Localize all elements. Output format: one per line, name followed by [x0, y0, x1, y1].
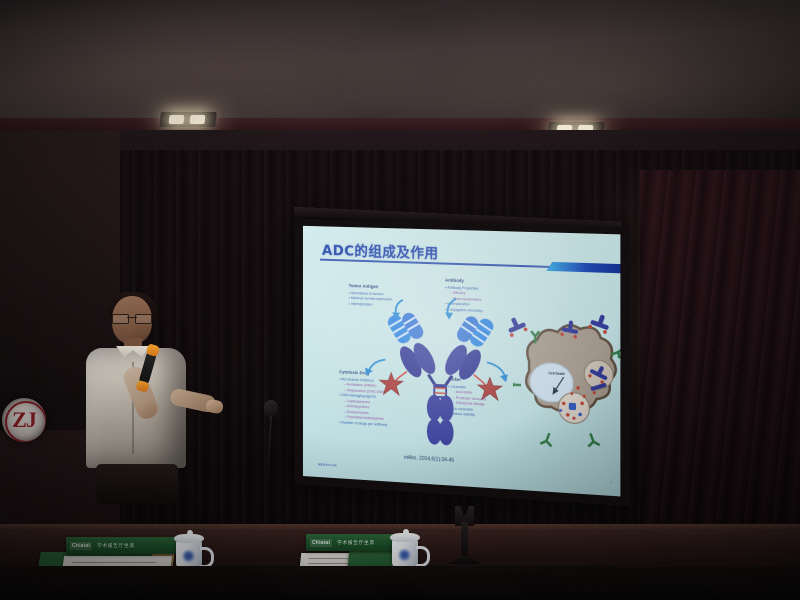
- arrow-tumor-antigen: [385, 297, 406, 322]
- glasses-lens-right: [135, 314, 152, 324]
- placard-logo: Chiatai: [70, 542, 92, 550]
- teacup-handle: [416, 546, 430, 567]
- presenter-lower-body: [96, 464, 178, 504]
- table-microphone-stand: [443, 506, 487, 568]
- glasses-lens-left: [112, 314, 129, 324]
- cell-death-label: Cell Death: [548, 371, 564, 376]
- projection-screen: ADC的组成及作用 Tumor Antigen Abundance in tum…: [294, 219, 629, 507]
- presenter: [78, 296, 210, 496]
- arrow-linker: [484, 359, 510, 384]
- arrow-cytotoxic-drug: [362, 356, 387, 379]
- venue-emblem: ZJ: [2, 398, 46, 442]
- free-adc-molecule: [587, 313, 612, 336]
- teacup-lid-knob: [403, 529, 409, 535]
- lamp-bulb: [169, 115, 185, 124]
- ceiling: [0, 0, 800, 128]
- teacup-floral-pattern: [397, 548, 412, 562]
- microphone-post: [461, 522, 468, 556]
- title-accent-bar: [546, 262, 620, 274]
- free-adc-molecule: [505, 316, 529, 339]
- microphone-stem: [266, 416, 272, 496]
- slide-watermark-logo: MEDSCI.CN: [318, 462, 337, 467]
- lecture-hall-scene: ZJ ADC的组成及作用 Tumor Antigen Abundance in …: [0, 0, 800, 600]
- teacup-floral-pattern: [181, 549, 196, 563]
- name-placard: Chiatai 学术报告厅坐席: [66, 537, 176, 554]
- presentation-slide: ADC的组成及作用 Tumor Antigen Abundance in tum…: [303, 226, 620, 497]
- table-front-shadow: [0, 566, 800, 600]
- placard-text: 学术报告厅坐席: [97, 543, 135, 549]
- lamp-bulb: [190, 115, 206, 124]
- ceiling-light-left: [159, 112, 217, 127]
- block-heading: Antibody: [445, 278, 483, 286]
- emblem-mark: ZJ: [12, 409, 36, 431]
- stage-curtain-right: [640, 170, 800, 570]
- glasses-bridge: [127, 317, 137, 318]
- placard-logo: Chiatai: [310, 539, 332, 547]
- floor-microphone-stand: [256, 400, 286, 496]
- teacup-lid-knob: [187, 530, 193, 536]
- teacup-handle: [200, 547, 214, 568]
- slide-page-number: 7: [610, 480, 612, 484]
- slide-citation: mAbs. 2014,6(1):34-45: [404, 455, 454, 464]
- glasses-icon: [112, 314, 152, 322]
- arrow-antibody: [440, 295, 462, 322]
- placard-text: 学术报告厅坐席: [337, 540, 375, 546]
